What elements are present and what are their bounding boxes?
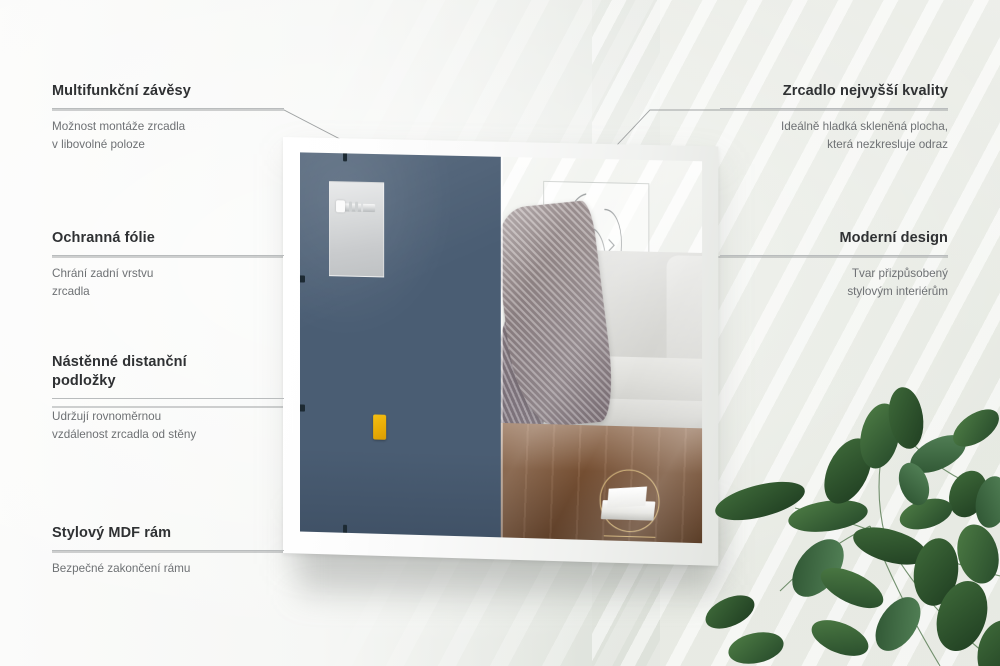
feature-callout-frame: Stylový MDF rám Bezpečné zakončení rámu [52, 524, 284, 578]
mdf-frame [283, 137, 718, 566]
mirror-glass [501, 157, 702, 543]
bracket-slot [349, 201, 352, 211]
feature-rule [52, 108, 284, 109]
infographic-stage: Multifunkční závěsy Možnost montáže zrca… [0, 0, 1000, 666]
feature-callout-film: Ochranná fólie Chrání zadní vrstvu zrcad… [52, 229, 284, 301]
feature-title: Multifunkční závěsy [52, 82, 284, 101]
feature-rule [720, 255, 948, 256]
feature-title: Moderní design [720, 229, 948, 248]
feature-rule [52, 255, 284, 256]
feature-rule [52, 398, 284, 399]
feature-rule [52, 550, 284, 551]
feature-title: Stylový MDF rám [52, 524, 284, 543]
bracket-knob [336, 200, 345, 212]
protective-film [300, 152, 501, 537]
distance-pad [343, 152, 347, 161]
hanging-bracket [329, 181, 384, 277]
feature-callout-hanging: Multifunkční závěsy Možnost montáže zrca… [52, 82, 284, 154]
feature-callout-spacers: Nástěnné distanční podložky Udržují rovn… [52, 353, 284, 445]
feature-desc: Tvar přizpůsobený stylovým interiérům [720, 265, 948, 301]
feature-title: Zrcadlo nejvyšší kvality [720, 82, 948, 101]
distance-pad [300, 404, 305, 411]
spacer-washer [373, 414, 386, 439]
mirror-panel [300, 152, 702, 543]
feature-callout-design: Moderní design Tvar přizpůsobený stylový… [720, 229, 948, 301]
feature-desc: Bezpečné zakončení rámu [52, 560, 284, 578]
feature-title: Nástěnné distanční podložky [52, 353, 284, 391]
feature-callout-glass: Zrcadlo nejvyšší kvality Ideálně hladká … [720, 82, 948, 154]
feature-title: Ochranná fólie [52, 229, 284, 248]
feature-desc: Chrání zadní vrstvu zrcadla [52, 265, 284, 301]
distance-pad [300, 276, 305, 283]
mirror-half-split [501, 157, 503, 538]
bracket-slot [355, 202, 358, 212]
feature-desc: Ideálně hladká skleněná plocha, která ne… [720, 118, 948, 154]
feature-rule [720, 108, 948, 109]
floor-gloss [501, 423, 702, 543]
feature-desc: Možnost montáže zrcadla v libovolné polo… [52, 118, 284, 154]
stand-book [607, 486, 647, 507]
reflected-floor [501, 423, 702, 543]
mirror-product [283, 137, 715, 553]
feature-desc: Udržují rovnoměrnou vzdálenost zrcadla o… [52, 408, 284, 444]
